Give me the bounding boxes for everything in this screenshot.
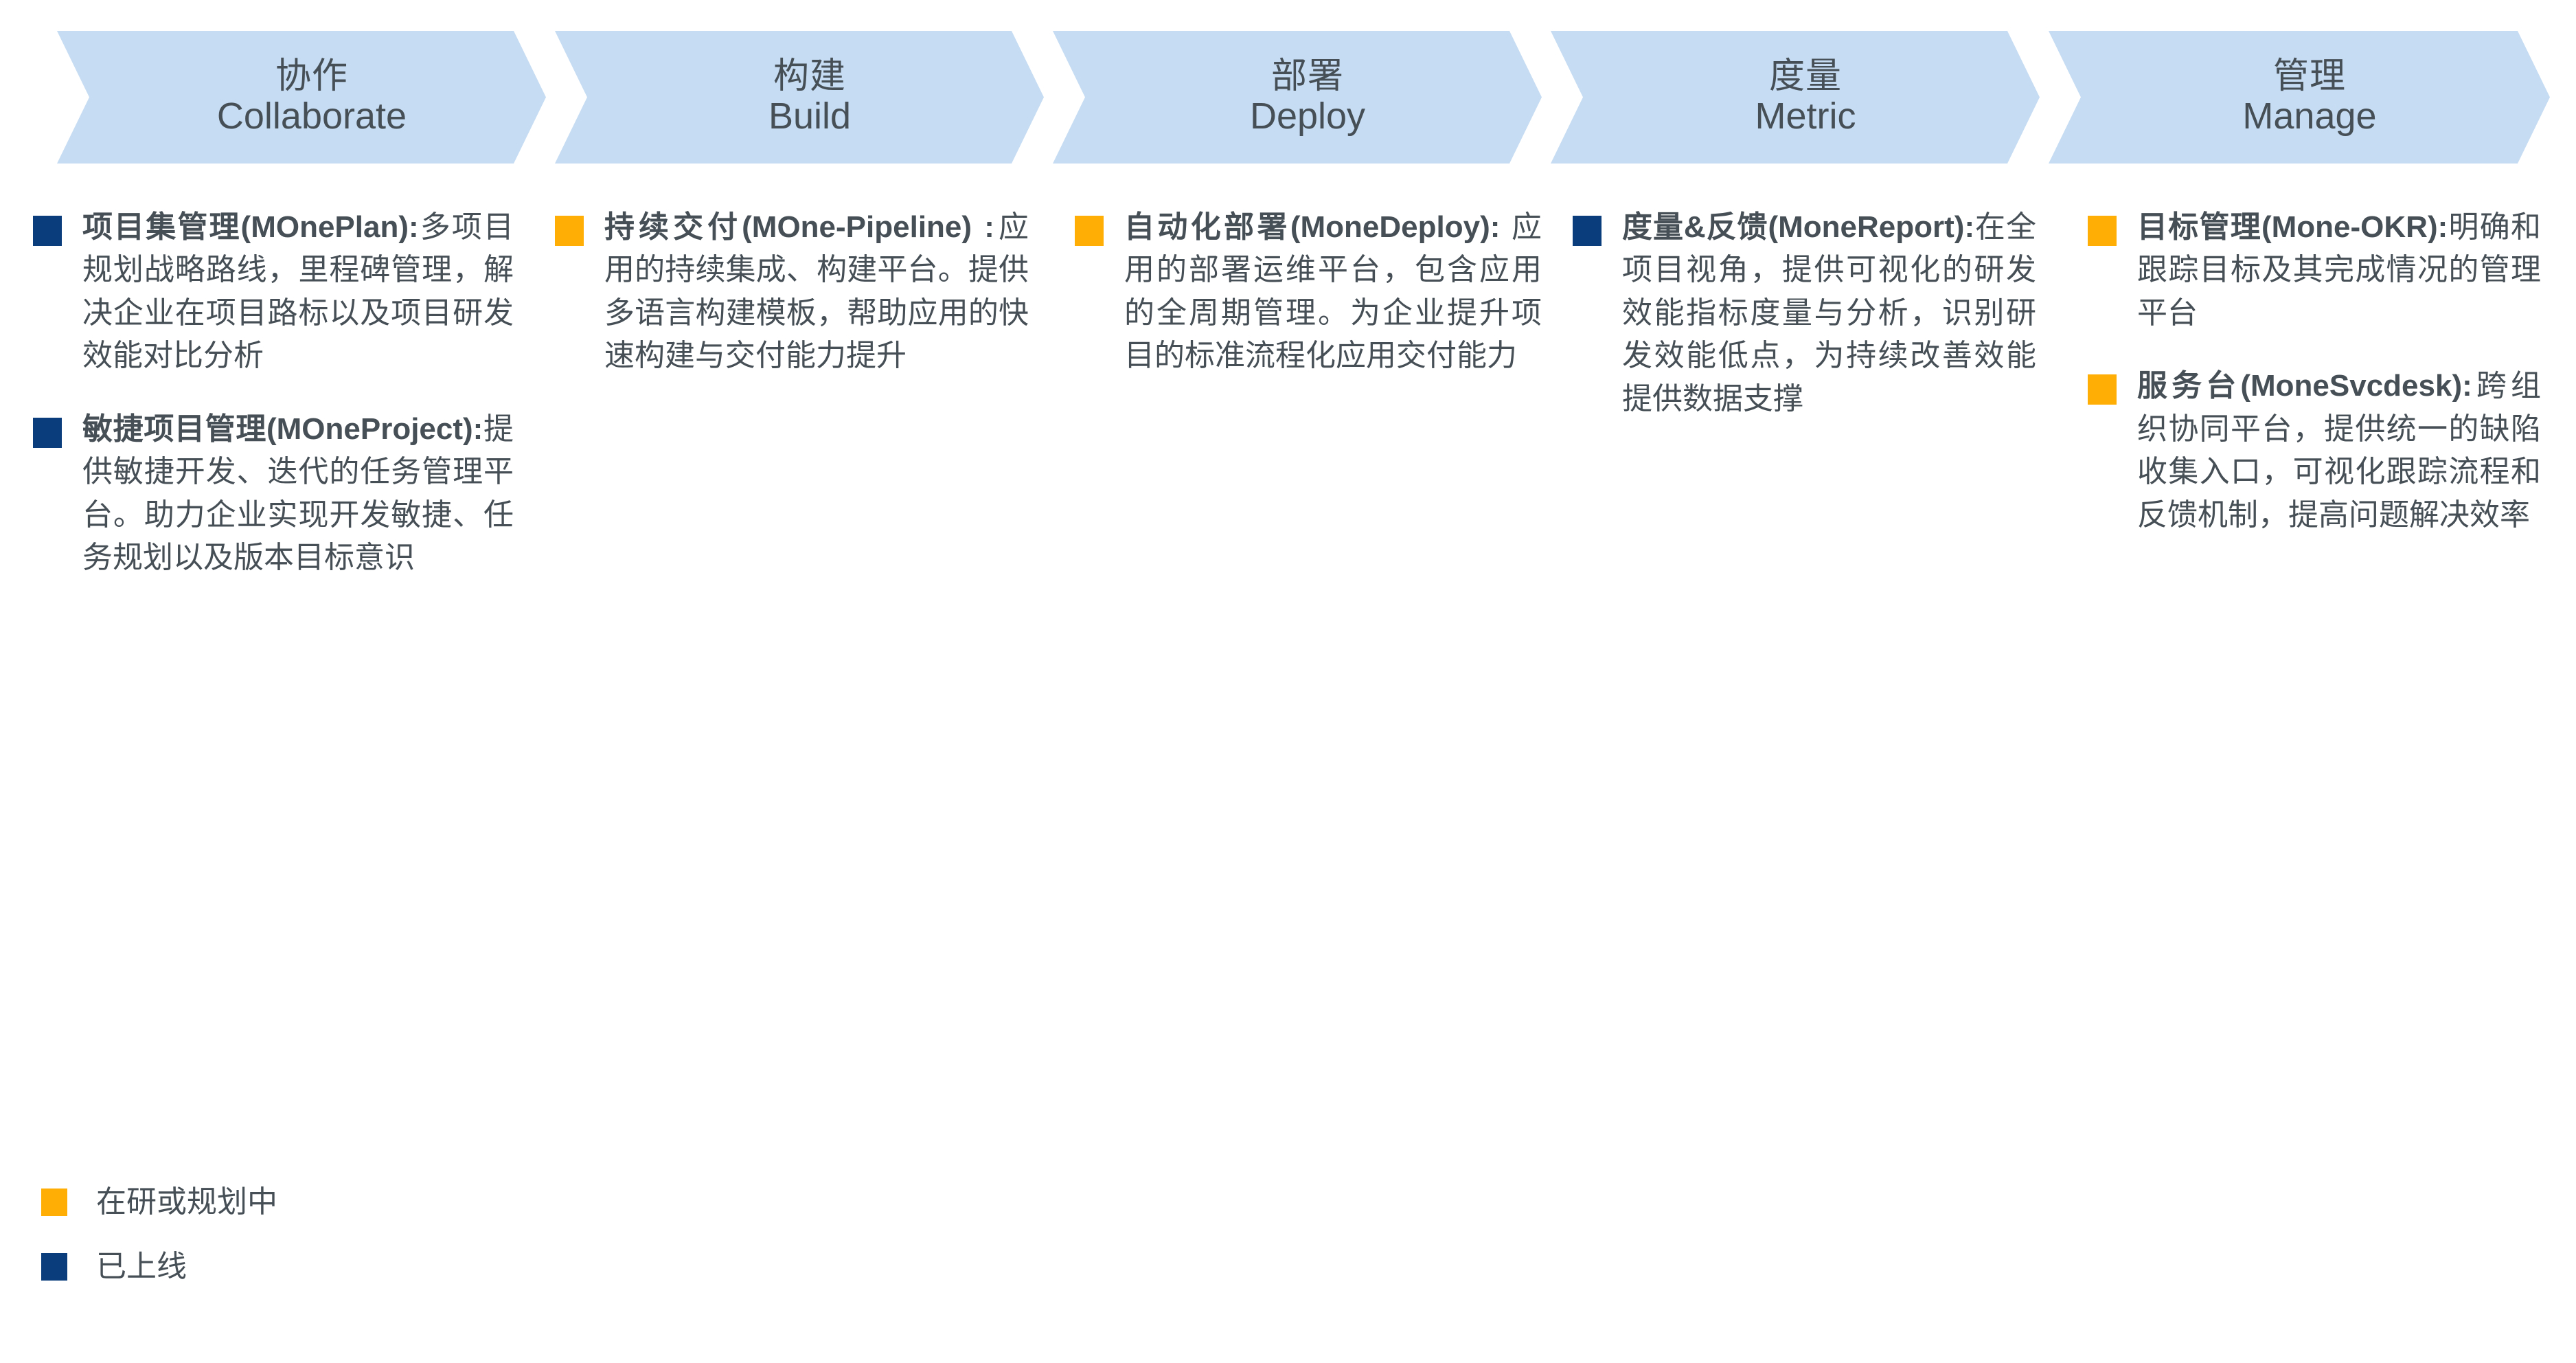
status-marker-planned: [2088, 216, 2117, 246]
legend-swatch-planned: [41, 1189, 67, 1216]
capability-description: 项目集管理(MOnePlan):多项目规划战略路线，里程碑管理，解决企业在项目路…: [82, 206, 514, 378]
capability-name: 敏捷项目管理(MOneProject):: [82, 412, 483, 446]
capability-description: 服务台(MoneSvcdesk):跨组织协同平台，提供统一的缺陷收集入口，可视化…: [2137, 365, 2541, 537]
status-marker-launched: [33, 418, 62, 448]
capability-item[interactable]: 服务台(MoneSvcdesk):跨组织协同平台，提供统一的缺陷收集入口，可视化…: [2088, 365, 2541, 537]
capability-column-build: 持续交付(MOne-Pipeline) :应用的持续集成、构建平台。提供多语言构…: [555, 206, 1029, 408]
diagram-canvas: 协作 Collaborate 构建 Build 部署 Deploy 度量 Met…: [0, 0, 2576, 1363]
stage-label-cn: 部署: [1251, 58, 1344, 95]
capability-name: 持续交付(MOne-Pipeline) :: [604, 210, 994, 244]
status-marker-planned: [1075, 216, 1104, 246]
capability-name: 服务台(MoneSvcdesk):: [2137, 369, 2472, 403]
stage-chevron-collaborate[interactable]: 协作 Collaborate: [57, 31, 546, 164]
legend-row-planned: 在研或规划中: [33, 1183, 277, 1248]
stage-label-cn: 构建: [753, 58, 846, 95]
stage-label-en: Collaborate: [196, 95, 407, 137]
stage-label-cn: 管理: [2253, 58, 2346, 95]
legend-row-launched: 已上线: [33, 1248, 277, 1312]
capability-description: 自动化部署(MoneDeploy): 应用的部署运维平台，包含应用的全周期管理。…: [1124, 206, 1542, 378]
status-marker-planned: [2088, 374, 2117, 405]
stage-label-en: Deploy: [1229, 95, 1365, 137]
stage-chevron-manage[interactable]: 管理 Manage: [2049, 31, 2550, 164]
capability-column-manage: 目标管理(Mone-OKR):明确和跟踪目标及其完成情况的管理平台 服务台(Mo…: [2088, 206, 2541, 567]
status-legend: 在研或规划中 已上线: [33, 1183, 277, 1312]
stage-chevron-build[interactable]: 构建 Build: [555, 31, 1044, 164]
process-stage-band: 协作 Collaborate 构建 Build 部署 Deploy 度量 Met…: [0, 0, 2576, 179]
stage-label-cn: 度量: [1748, 58, 1842, 95]
capability-column-deploy: 自动化部署(MoneDeploy): 应用的部署运维平台，包含应用的全周期管理。…: [1075, 206, 1542, 408]
stage-label-en: Metric: [1735, 95, 1856, 137]
capability-item[interactable]: 项目集管理(MOnePlan):多项目规划战略路线，里程碑管理，解决企业在项目路…: [33, 206, 514, 378]
capability-item[interactable]: 自动化部署(MoneDeploy): 应用的部署运维平台，包含应用的全周期管理。…: [1075, 206, 1542, 378]
capability-item[interactable]: 敏捷项目管理(MOneProject):提供敏捷开发、迭代的任务管理平台。助力企…: [33, 408, 514, 580]
capability-description: 目标管理(Mone-OKR):明确和跟踪目标及其完成情况的管理平台: [2137, 206, 2541, 335]
capability-name: 自动化部署(MoneDeploy):: [1124, 210, 1500, 244]
capability-column-metric: 度量&反馈(MoneReport):在全项目视角，提供可视化的研发效能指标度量与…: [1573, 206, 2036, 451]
stage-chevron-deploy[interactable]: 部署 Deploy: [1053, 31, 1542, 164]
capability-description: 持续交付(MOne-Pipeline) :应用的持续集成、构建平台。提供多语言构…: [604, 206, 1029, 378]
status-marker-launched: [1573, 216, 1602, 246]
capability-name: 目标管理(Mone-OKR):: [2137, 210, 2448, 244]
capability-item[interactable]: 目标管理(Mone-OKR):明确和跟踪目标及其完成情况的管理平台: [2088, 206, 2541, 335]
capability-description: 敏捷项目管理(MOneProject):提供敏捷开发、迭代的任务管理平台。助力企…: [82, 408, 514, 580]
stage-label-en: Build: [748, 95, 851, 137]
stage-label-en: Manage: [2222, 95, 2376, 137]
capability-column-collaborate: 项目集管理(MOnePlan):多项目规划战略路线，里程碑管理，解决企业在项目路…: [33, 206, 514, 610]
legend-label-launched: 已上线: [96, 1248, 277, 1286]
capability-name: 项目集管理(MOnePlan):: [82, 210, 419, 244]
stage-chevron-metric[interactable]: 度量 Metric: [1551, 31, 2040, 164]
capability-name: 度量&反馈(MoneReport):: [1622, 210, 1974, 244]
capability-item[interactable]: 持续交付(MOne-Pipeline) :应用的持续集成、构建平台。提供多语言构…: [555, 206, 1029, 378]
legend-swatch-launched: [41, 1253, 67, 1281]
capability-item[interactable]: 度量&反馈(MoneReport):在全项目视角，提供可视化的研发效能指标度量与…: [1573, 206, 2036, 420]
stage-label-cn: 协作: [255, 58, 348, 95]
capability-description: 度量&反馈(MoneReport):在全项目视角，提供可视化的研发效能指标度量与…: [1622, 206, 2036, 420]
legend-label-planned: 在研或规划中: [96, 1183, 277, 1221]
status-marker-launched: [33, 216, 62, 246]
status-marker-planned: [555, 216, 584, 246]
